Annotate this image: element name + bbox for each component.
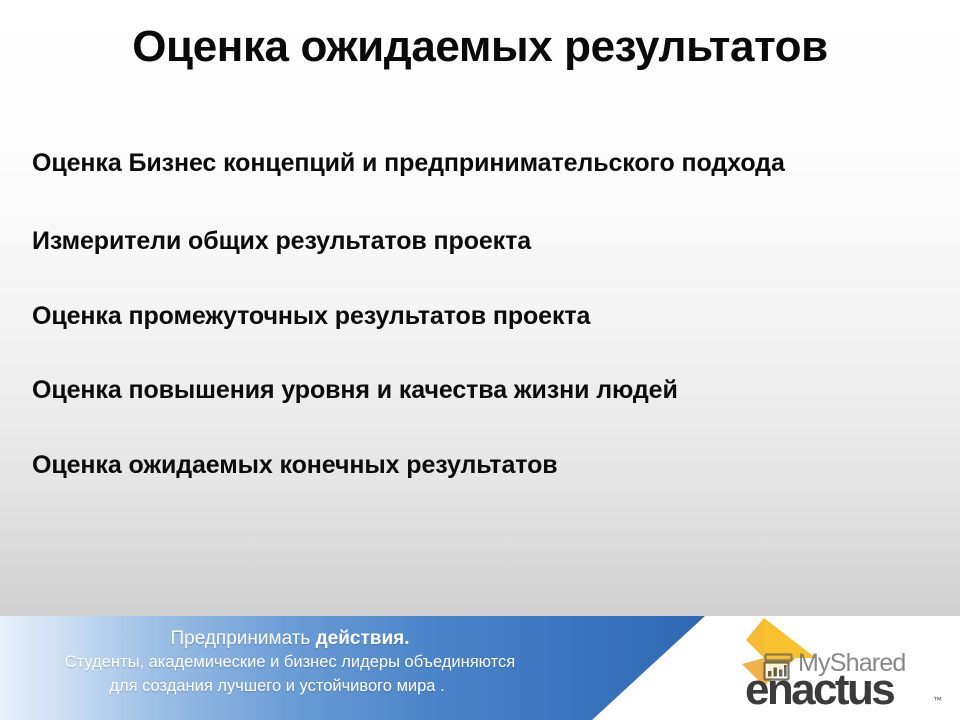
list-item: Оценка повышения уровня и качества жизни… [32,377,922,405]
presentation-slide: Оценка ожидаемых результатов Оценка Бизн… [0,0,960,720]
footer-headline-regular: Предпринимать [170,628,315,649]
footer-subline-1: Студенты, академические и бизнес лидеры … [0,651,580,675]
footer-subline-2: для создания лучшего и устойчивого мира … [0,675,580,699]
page-title: Оценка ожидаемых результатов [132,24,828,70]
list-item: Измерители общих результатов проекта [32,228,922,256]
footer-text-block: Предпринимать действия. Студенты, академ… [0,627,580,699]
footer-headline-bold: действия. [316,628,410,649]
footer-headline: Предпринимать действия. [0,627,580,651]
title-block: Оценка ожидаемых результатов [0,24,960,70]
list-item: Оценка промежуточных результатов проекта [32,303,922,331]
enactus-trademark: ™ [933,695,942,705]
body-content-list: Оценка Бизнес концепций и предпринимател… [32,150,922,480]
myshared-watermark: MyShared [762,648,960,688]
myshared-label: MyShared [798,651,906,676]
list-item: Оценка ожидаемых конечных результатов [32,452,922,480]
list-item: Оценка Бизнес концепций и предпринимател… [32,150,922,178]
presentation-chart-icon [762,652,796,682]
